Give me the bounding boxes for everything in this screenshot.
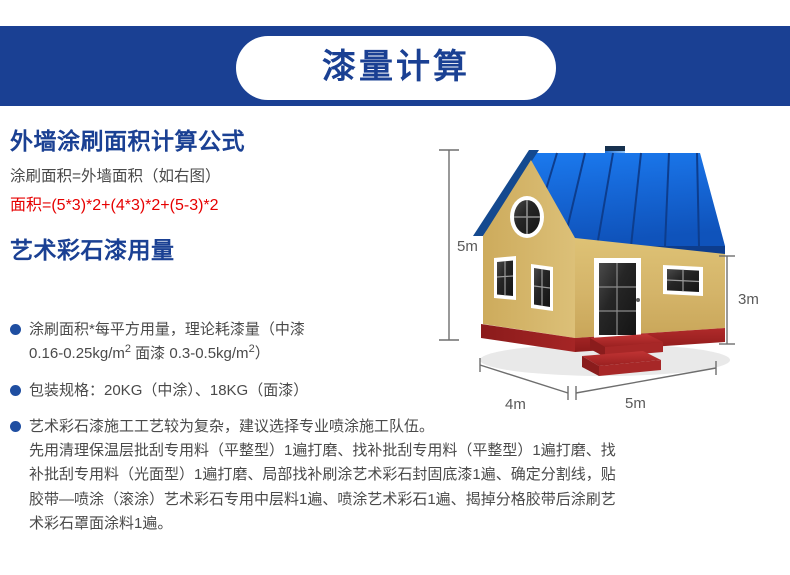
coverage-line-2c: ）	[255, 345, 270, 362]
process-line-5: 术彩石罩面涂料1遍。	[29, 515, 172, 532]
dimension-label-3m: 3m	[738, 291, 759, 308]
bullet-dot-icon	[10, 324, 21, 335]
coverage-line-2a: 0.16-0.25kg/m	[29, 345, 125, 362]
page-title-pill: 漆量计算	[236, 36, 556, 100]
process-line-2: 先用清理保温层批刮专用料（平整型）1遍打磨、找补批刮专用料（平整型）1遍打磨、找	[29, 442, 616, 459]
process-line-3: 补批刮专用料（光面型）1遍打磨、局部找补刷涂艺术彩石封固底漆1遍、确定分割线，贴	[29, 466, 616, 483]
text-column: 外墙涂刷面积计算公式 涂刷面积=外墙面积（如右图） 面积=(5*3)*2+(4*…	[10, 128, 440, 273]
process-line-4: 胶带—喷涂（滚涂）艺术彩石专用中层料1遍、喷涂艺术彩石1遍、揭掉分格胶带后涂刷艺	[29, 491, 616, 508]
dimension-label-5m-left: 5m	[457, 238, 478, 255]
page-title: 漆量计算	[322, 50, 470, 84]
coverage-line-2b: 面漆 0.3-0.5kg/m	[131, 345, 249, 362]
formula-section-heading: 外墙涂刷面积计算公式	[10, 128, 440, 156]
process-line-1: 艺术彩石漆施工工艺较为复杂，建议选择专业喷涂施工队伍。	[29, 418, 434, 435]
dimension-label-4m: 4m	[505, 396, 526, 413]
front-door	[594, 258, 641, 338]
attic-window	[510, 196, 544, 238]
house-illustration: 5m 3m 4m 5m	[435, 128, 790, 413]
packaging-bullet-text: 包装规格：20KG（中涂）、18KG（面漆）	[29, 379, 308, 403]
coverage-bullet-text: 涂刷面积*每平方用量，理论耗漆量（中漆 0.16-0.25kg/m2 面漆 0.…	[29, 318, 305, 367]
side-window-right	[531, 264, 553, 311]
formula-description: 涂刷面积=外墙面积（如右图）	[10, 164, 440, 190]
dimension-label-5m-front: 5m	[625, 395, 646, 412]
list-item: 艺术彩石漆施工工艺较为复杂，建议选择专业喷涂施工队伍。 先用清理保温层批刮专用料…	[10, 415, 785, 536]
house-diagram-svg: 5m 3m 4m 5m	[435, 128, 790, 413]
bullet-dot-icon	[10, 421, 21, 432]
process-bullet-text: 艺术彩石漆施工工艺较为复杂，建议选择专业喷涂施工队伍。 先用清理保温层批刮专用料…	[29, 415, 777, 536]
side-window-left	[494, 256, 516, 300]
coverage-line-1: 涂刷面积*每平方用量，理论耗漆量（中漆	[29, 321, 305, 338]
usage-section-heading: 艺术彩石漆用量	[10, 237, 440, 265]
formula-expression: 面积=(5*3)*2+(4*3)*2+(5-3)*2	[10, 192, 440, 219]
bullet-dot-icon	[10, 385, 21, 396]
front-window	[663, 265, 703, 296]
dimension-height-left	[439, 150, 459, 340]
